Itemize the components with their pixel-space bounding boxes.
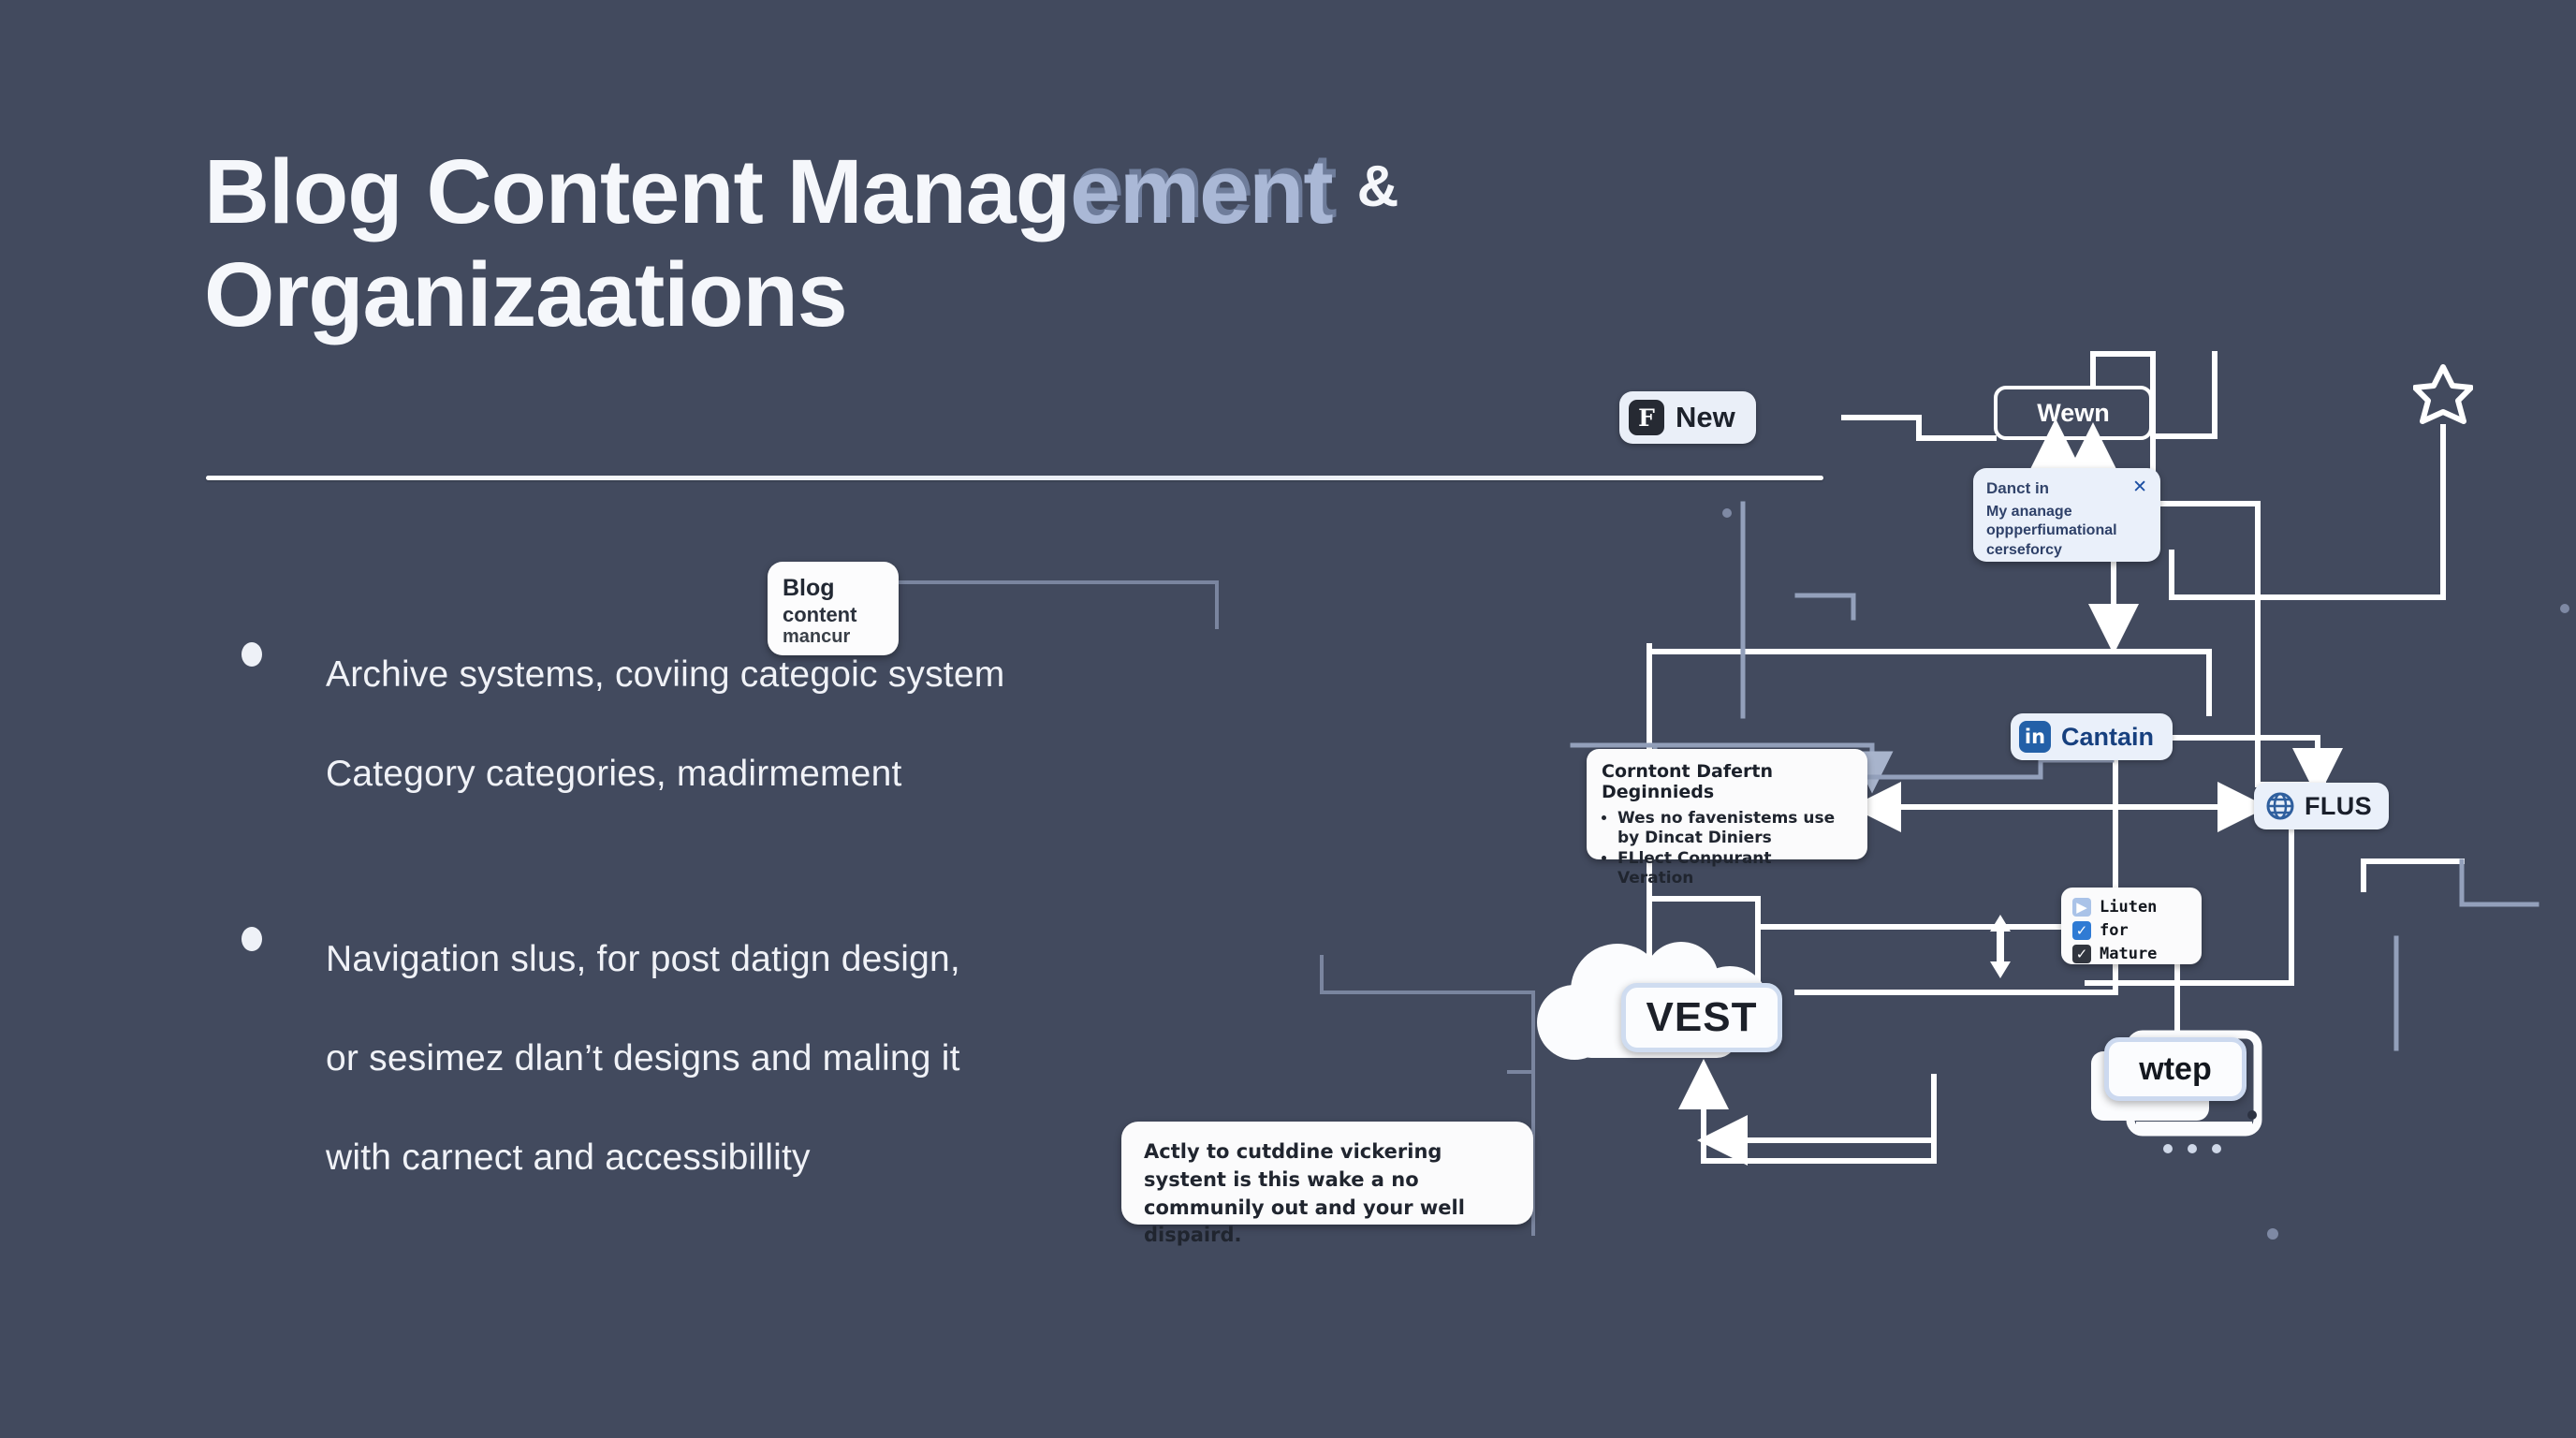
vest-chip[interactable]: VEST [1621,983,1782,1052]
vest-chip-label: VEST [1647,994,1758,1041]
globe-icon [2265,791,2295,821]
new-pill-label: New [1676,401,1735,434]
list-item[interactable]: ✓ Mature [2072,944,2190,964]
content-details-card[interactable]: Corntont Dafertn Deginnieds Wes no faven… [1587,749,1867,859]
flow-diagram: F New Wewn Danct in ✕ My ananage oppperf… [1516,337,2576,1292]
linkedin-icon: in [2019,721,2051,753]
close-icon[interactable]: ✕ [2132,479,2147,495]
tooltip-card[interactable]: Danct in ✕ My ananage oppperfiumational … [1973,468,2160,562]
cantain-chip[interactable]: in Cantain [2011,713,2173,760]
list-item[interactable]: ✓ for [2072,920,2190,941]
blog-card-line1: Blog [783,575,884,603]
wewn-button[interactable]: Wewn [1994,386,2153,440]
checkbox-checked-icon[interactable]: ✓ [2072,921,2091,940]
note-box-text: Actly to cutddine vickering systent is t… [1144,1138,1511,1250]
blog-card-line3: mancur [783,626,884,649]
star-outline-icon [2413,363,2473,427]
vertical-resize-arrow-icon[interactable] [1986,911,2014,982]
list-item: FLlect Conpurant Veration [1617,849,1852,888]
content-card-list: Wes no favenistems use by Dincat Diniers… [1602,809,1852,888]
play-icon[interactable]: ▶ [2072,898,2091,917]
note-box: Actly to cutddine vickering systent is t… [1121,1122,1533,1225]
content-card-heading: Corntont Dafertn Deginnieds [1602,761,1852,802]
wewn-button-label: Wewn [2037,399,2110,428]
check-row-label: for [2100,921,2129,940]
blog-content-card[interactable]: Blog content mancur [768,562,899,655]
flus-chip-label: FLUS [2305,792,2372,821]
check-row-label: Mature [2100,945,2157,963]
wtep-chip[interactable]: wtep [2104,1037,2247,1101]
tooltip-body: My ananage oppperfiumational cerseforcy [1986,503,2147,560]
blog-card-line2: content [783,603,884,627]
check-row-label: Liuten [2100,898,2157,917]
wtep-chip-label: wtep [2139,1051,2211,1088]
facebook-f-icon: F [1629,400,1664,435]
list-item: Wes no favenistems use by Dincat Diniers [1617,809,1852,847]
new-pill-badge[interactable]: F New [1619,391,1756,444]
checkbox-options-card[interactable]: ▶ Liuten ✓ for ✓ Mature [2061,888,2202,964]
slide-root: Blog Content Management &Organizaations … [0,0,2576,1438]
list-item[interactable]: ▶ Liuten [2072,897,2190,917]
cantain-chip-label: Cantain [2061,723,2154,752]
checkbox-checked-icon[interactable]: ✓ [2072,945,2091,963]
tooltip-heading: Danct in [1986,479,2049,498]
flus-chip[interactable]: FLUS [2254,783,2389,829]
